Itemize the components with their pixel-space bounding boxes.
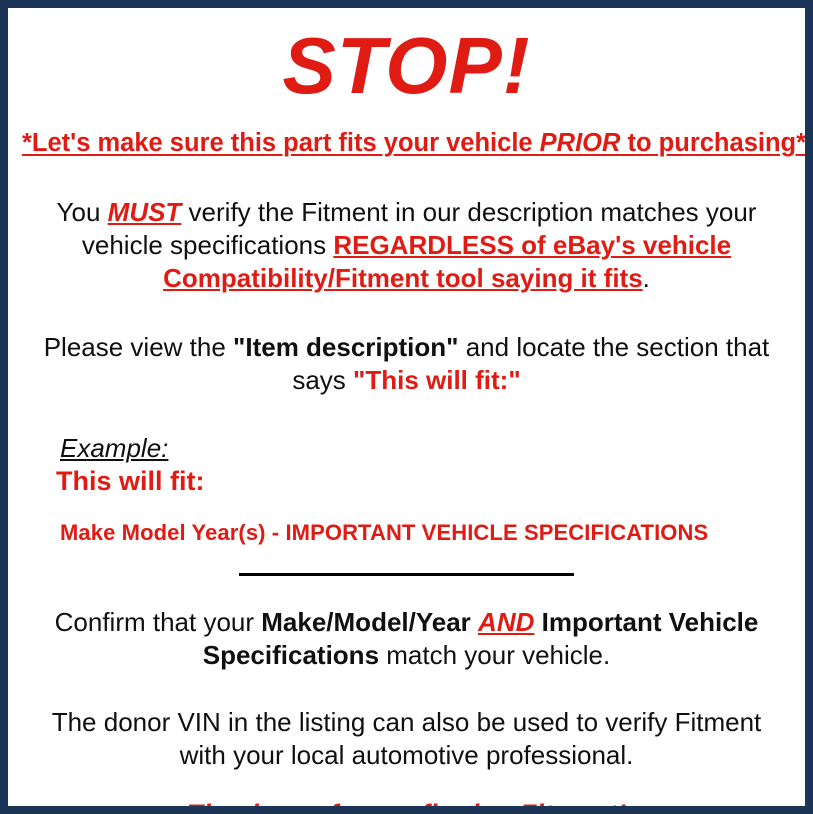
subtitle-text-end: to purchasing*: [620, 129, 806, 157]
paragraph-donor-vin: The donor VIN in the listing can also be…: [22, 706, 791, 772]
example-fit-heading: This will fit:: [56, 465, 791, 497]
subtitle-banner: *Let's make sure this part fits your veh…: [22, 128, 791, 158]
confirm-space-2: [534, 607, 541, 637]
must-emphasis: MUST: [108, 197, 182, 227]
page-title: STOP!: [22, 8, 791, 110]
make-model-year-emphasis: Make/Model/Year: [261, 607, 471, 637]
example-block: Example: This will fit: Make Model Year(…: [22, 433, 791, 546]
example-label-wrap: Example:: [60, 433, 791, 463]
example-label: Example:: [60, 433, 168, 463]
subtitle-text-start: *Let's make sure this part fits your veh…: [22, 129, 540, 157]
example-spec-line: Make Model Year(s) - IMPORTANT VEHICLE S…: [60, 519, 791, 546]
must-text-end: .: [643, 263, 650, 293]
paragraph-item-description: Please view the "Item description" and l…: [22, 331, 791, 397]
thank-you-line: Thank you for confirming Fitment!: [22, 798, 791, 814]
and-emphasis: AND: [478, 607, 534, 637]
confirm-text-start: Confirm that your: [55, 607, 262, 637]
confirm-space-1: [471, 607, 478, 637]
this-will-fit-emphasis: "This will fit:": [353, 365, 521, 395]
divider: [22, 572, 791, 576]
fitment-notice-card: STOP! *Let's make sure this part fits yo…: [0, 0, 813, 814]
must-text-start: You: [57, 197, 108, 227]
item-description-emphasis: "Item description": [233, 332, 458, 362]
confirm-text-end: match your vehicle.: [379, 640, 610, 670]
subtitle-emphasis-prior: PRIOR: [540, 129, 621, 157]
view-text-start: Please view the: [44, 332, 233, 362]
divider-line: [239, 573, 574, 576]
paragraph-must-verify: You MUST verify the Fitment in our descr…: [22, 196, 791, 295]
paragraph-confirm: Confirm that your Make/Model/Year AND Im…: [22, 606, 791, 672]
